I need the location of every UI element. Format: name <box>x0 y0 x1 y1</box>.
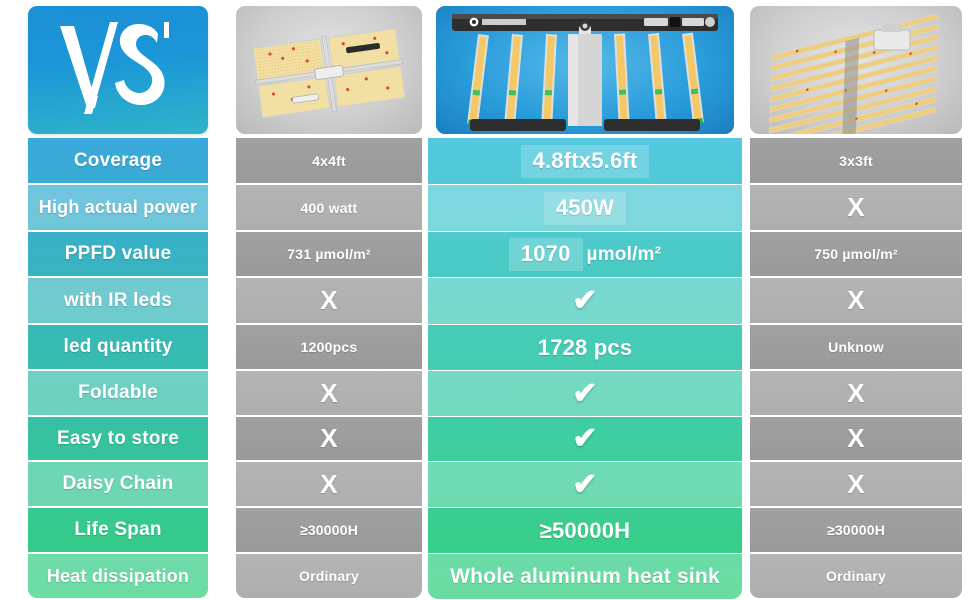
competitor-b-value: 3x3ft <box>750 138 962 183</box>
competitor-a-value: X <box>236 371 422 415</box>
comparison-chart: Coverage4x4ft4.8ftx5.6ft3x3ftHigh actual… <box>0 0 970 600</box>
competitor-b-product-image <box>750 6 962 134</box>
feature-label-coverage: Coverage <box>28 138 208 183</box>
featured-value: 1070µmol/m² <box>428 232 742 277</box>
featured-value: ✔ <box>428 462 742 507</box>
featured-value-unit: µmol/m² <box>583 244 662 266</box>
featured-value: ✔ <box>428 278 742 324</box>
competitor-b-value: X <box>750 462 962 506</box>
competitor-a-value: 1200pcs <box>236 325 422 369</box>
competitor-b-value: ≥30000H <box>750 508 962 552</box>
feature-label-led-quantity: led quantity <box>28 325 208 369</box>
competitor-a-value: 731 µmol/m² <box>236 232 422 276</box>
featured-value: Whole aluminum heat sink <box>428 554 742 599</box>
featured-value: ✔ <box>428 417 742 461</box>
feature-label-easy-to-store: Easy to store <box>28 417 208 460</box>
competitor-b-value: Unknow <box>750 325 962 369</box>
competitor-b-value: 750 µmol/m² <box>750 232 962 276</box>
competitor-b-value: X <box>750 185 962 230</box>
check-icon: ✔ <box>572 424 597 454</box>
featured-value: 1728 pcs <box>428 325 742 370</box>
feature-label-daisy-chain: Daisy Chain <box>28 462 208 506</box>
vs-logo-glyph <box>54 20 184 120</box>
featured-value-text: 1728 pcs <box>538 335 633 361</box>
featured-value: ✔ <box>428 371 742 416</box>
check-icon: ✔ <box>572 286 597 316</box>
competitor-a-value: X <box>236 462 422 506</box>
featured-value-text: ≥50000H <box>540 518 631 544</box>
featured-product-image <box>436 6 734 134</box>
competitor-a-product-image <box>236 6 422 134</box>
competitor-a-value: 4x4ft <box>236 138 422 183</box>
feature-label-life-span: Life Span <box>28 508 208 552</box>
featured-value-text: Whole aluminum heat sink <box>450 565 720 589</box>
featured-value: ≥50000H <box>428 508 742 553</box>
check-icon: ✔ <box>572 379 597 409</box>
feature-label-foldable: Foldable <box>28 371 208 415</box>
feature-label-with-ir-leds: with IR leds <box>28 278 208 323</box>
feature-label-heat-dissipation: Heat dissipation <box>28 554 208 598</box>
competitor-a-value: 400 watt <box>236 185 422 230</box>
competitor-a-value: ≥30000H <box>236 508 422 552</box>
featured-value-text: 450W <box>544 192 626 225</box>
competitor-b-value: X <box>750 278 962 323</box>
feature-label-high-actual-power: High actual power <box>28 185 208 230</box>
featured-value-text: 4.8ftx5.6ft <box>521 145 650 178</box>
featured-value-text: 1070 <box>509 238 583 271</box>
check-icon: ✔ <box>572 470 597 500</box>
competitor-b-value: Ordinary <box>750 554 962 598</box>
competitor-a-value: X <box>236 278 422 323</box>
vs-logo <box>28 6 208 134</box>
competitor-a-value: X <box>236 417 422 460</box>
feature-label-ppfd-value: PPFD value <box>28 232 208 276</box>
competitor-b-value: X <box>750 371 962 415</box>
featured-value: 4.8ftx5.6ft <box>428 138 742 184</box>
competitor-b-value: X <box>750 417 962 460</box>
featured-value: 450W <box>428 185 742 231</box>
competitor-a-value: Ordinary <box>236 554 422 598</box>
